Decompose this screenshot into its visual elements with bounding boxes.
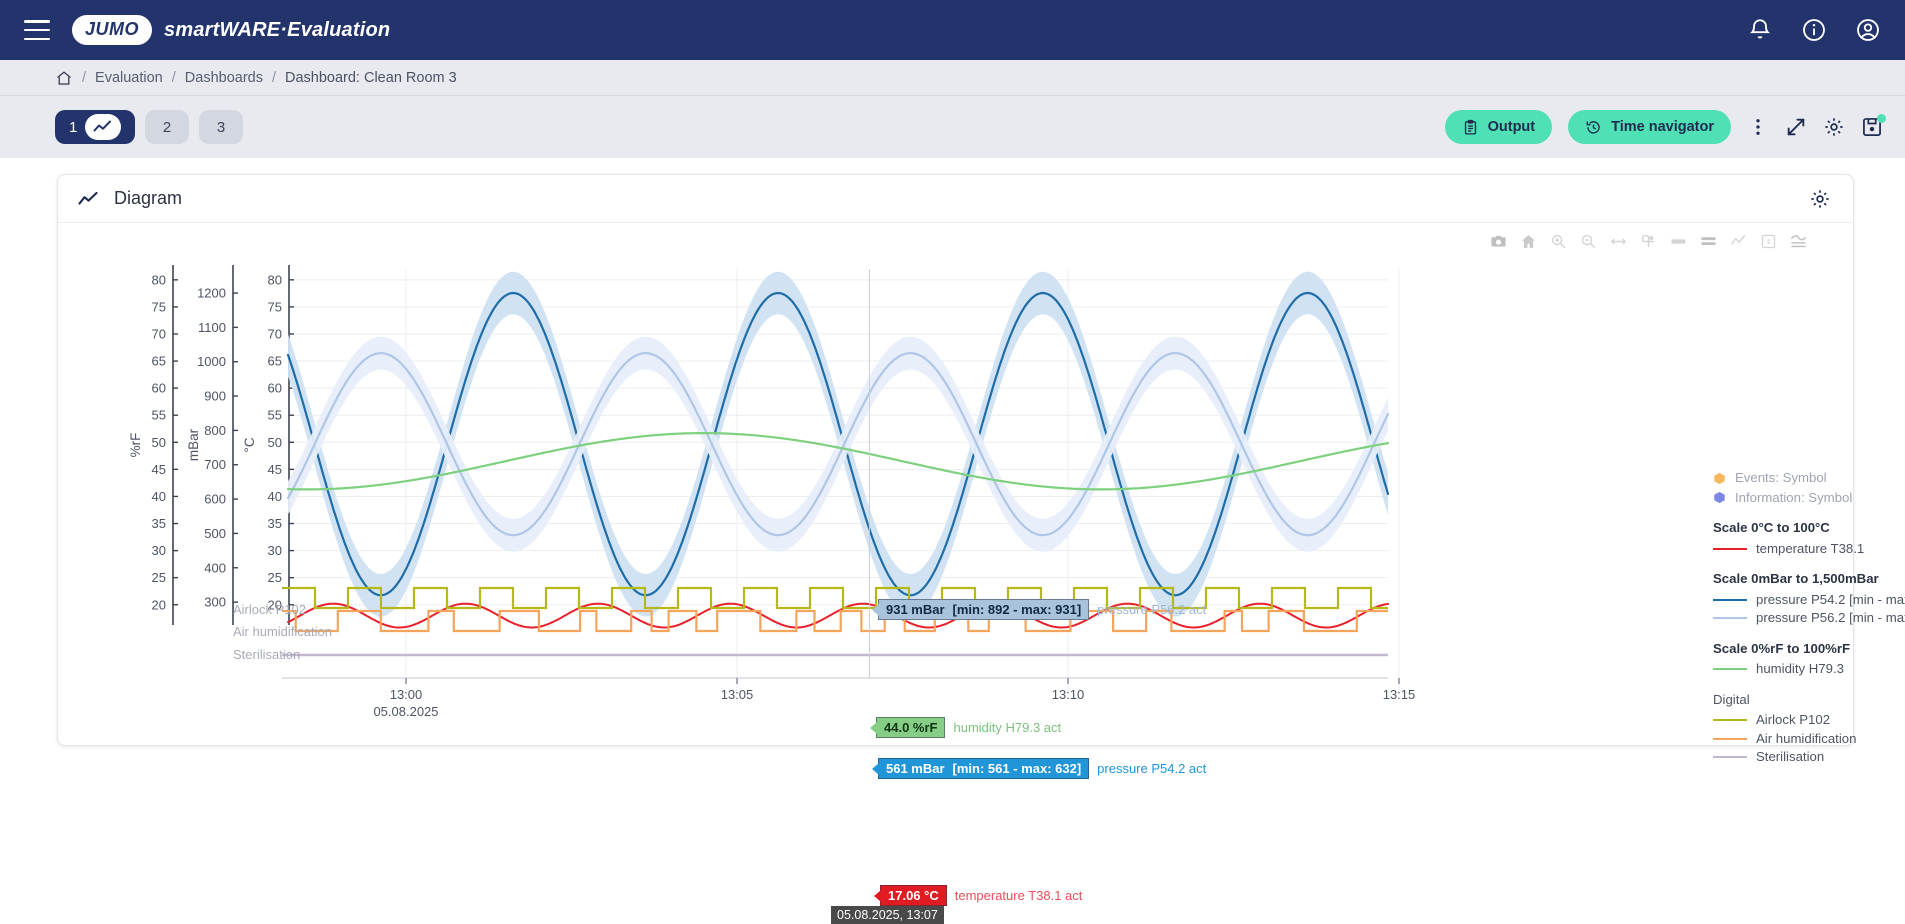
humidity-h793-tooltip[interactable]: 44.0 %rF humidity H79.3 act bbox=[876, 717, 1061, 738]
legend-group-pressure: Scale 0mBar to 1,500mBar pressure P54.2 … bbox=[1713, 571, 1905, 627]
breadcrumb-item-dashboard-clean-room-3[interactable]: Dashboard: Clean Room 3 bbox=[285, 70, 457, 86]
svg-text:20: 20 bbox=[152, 597, 166, 612]
chart-line-icon bbox=[85, 114, 121, 140]
diagram-card: Diagram bbox=[57, 174, 1854, 746]
pressure-p542-tooltip-range: [min: 561 - max: 632] bbox=[953, 761, 1082, 776]
legend-item-temperature-t381[interactable]: temperature T38.1 bbox=[1713, 541, 1905, 558]
hexagon-icon bbox=[1713, 491, 1726, 504]
digital-label-air-humidification: Air humidification bbox=[233, 624, 332, 639]
temperature-t381-tooltip-series: temperature T38.1 act bbox=[955, 888, 1083, 903]
pressure-p542-tooltip[interactable]: 561 mBar [min: 561 - max: 632] pressure … bbox=[878, 758, 1206, 779]
svg-text:45: 45 bbox=[152, 462, 166, 477]
svg-text:1200: 1200 bbox=[197, 286, 226, 301]
pressure-p562-tooltip-box: 931 mBar [min: 892 - max: 931] bbox=[878, 599, 1089, 620]
temperature-t381-tooltip[interactable]: 17.06 °C temperature T38.1 act bbox=[880, 885, 1082, 906]
legend-item-humidity-h793-label: humidity H79.3 bbox=[1756, 661, 1844, 678]
legend-group-temperature-heading: Scale 0°C to 100°C bbox=[1713, 520, 1905, 537]
svg-text:55: 55 bbox=[152, 408, 166, 423]
legend-item-pressure-p562[interactable]: pressure P56.2 [min - max] bbox=[1713, 610, 1905, 627]
svg-text:300: 300 bbox=[204, 595, 226, 610]
svg-text:%rF: %rF bbox=[128, 433, 143, 458]
svg-text:60: 60 bbox=[268, 381, 282, 396]
legend-group-digital-heading: Digital bbox=[1713, 692, 1905, 709]
legend-item-pressure-p562-label: pressure P56.2 [min - max] bbox=[1756, 610, 1905, 627]
legend-item-sterilisation-label: Sterilisation bbox=[1756, 749, 1824, 766]
legend-group-digital: Digital Airlock P102 Air humidification … bbox=[1713, 692, 1905, 766]
legend-group-humidity: Scale 0%rF to 100%rF humidity H79.3 bbox=[1713, 641, 1905, 678]
output-button-label: Output bbox=[1488, 119, 1536, 135]
account-icon[interactable] bbox=[1855, 17, 1881, 43]
jumo-logo: JUMO bbox=[72, 15, 152, 45]
svg-text:60: 60 bbox=[152, 381, 166, 396]
home-icon[interactable] bbox=[55, 69, 73, 87]
breadcrumb-separator-3: / bbox=[272, 70, 276, 86]
output-button[interactable]: Output bbox=[1445, 110, 1553, 144]
kebab-menu-icon[interactable] bbox=[1747, 116, 1769, 138]
pressure-p542-tooltip-value: 561 mBar bbox=[886, 761, 945, 776]
legend-item-pressure-p542-label: pressure P54.2 [min - max] bbox=[1756, 592, 1905, 609]
temperature-t381-tooltip-box: 17.06 °C bbox=[880, 885, 947, 906]
page-tab-2[interactable]: 2 bbox=[145, 110, 189, 144]
page-tab-3[interactable]: 3 bbox=[199, 110, 243, 144]
svg-text:75: 75 bbox=[268, 299, 282, 314]
svg-text:13:10: 13:10 bbox=[1052, 687, 1085, 702]
diagram-plot: 20253035404550556065707580%rF30040050060… bbox=[58, 223, 1853, 745]
legend-item-air-humidification[interactable]: Air humidification bbox=[1713, 731, 1905, 748]
legend-swatch bbox=[1713, 668, 1747, 670]
svg-text:13:05: 13:05 bbox=[721, 687, 754, 702]
breadcrumb: / Evaluation / Dashboards / Dashboard: C… bbox=[0, 60, 1905, 96]
legend-item-air-humidification-label: Air humidification bbox=[1756, 731, 1856, 748]
app-title: smartWARE·Evaluation bbox=[164, 19, 390, 42]
humidity-h793-tooltip-box: 44.0 %rF bbox=[876, 717, 945, 738]
history-icon bbox=[1585, 119, 1602, 136]
svg-text:1100: 1100 bbox=[198, 320, 226, 335]
svg-text:65: 65 bbox=[152, 354, 166, 369]
svg-text:75: 75 bbox=[152, 299, 166, 314]
legend-group-pressure-heading: Scale 0mBar to 1,500mBar bbox=[1713, 571, 1905, 588]
legend-symbol-information-label: Information: Symbol bbox=[1735, 490, 1852, 507]
svg-text:30: 30 bbox=[152, 543, 166, 558]
logo-text: JUMO bbox=[85, 20, 139, 39]
gear-icon[interactable] bbox=[1809, 188, 1831, 210]
svg-text:1000: 1000 bbox=[197, 354, 226, 369]
legend-item-sterilisation[interactable]: Sterilisation bbox=[1713, 749, 1905, 766]
breadcrumb-item-evaluation[interactable]: Evaluation bbox=[95, 70, 163, 86]
svg-text:mBar: mBar bbox=[186, 428, 201, 461]
svg-text:35: 35 bbox=[268, 516, 282, 531]
chart-legend: Events: Symbol Information: Symbol Scale… bbox=[1713, 470, 1905, 768]
humidity-h793-tooltip-value: 44.0 %rF bbox=[884, 720, 937, 735]
svg-text:13:15: 13:15 bbox=[1383, 687, 1416, 702]
svg-text:35: 35 bbox=[152, 516, 166, 531]
time-navigator-button[interactable]: Time navigator bbox=[1568, 110, 1731, 144]
pressure-p542-tooltip-series: pressure P54.2 act bbox=[1097, 761, 1206, 776]
clipboard-icon bbox=[1462, 119, 1479, 136]
time-navigator-button-label: Time navigator bbox=[1611, 119, 1714, 135]
toolbar-actions: Output Time navigator bbox=[1445, 110, 1883, 144]
legend-swatch bbox=[1713, 738, 1747, 740]
page-tab-3-label: 3 bbox=[217, 119, 225, 136]
chart-canvas[interactable]: 20253035404550556065707580%rF30040050060… bbox=[58, 223, 1853, 745]
app-bar: JUMO smartWARE·Evaluation bbox=[0, 0, 1905, 60]
page-selector: 1 2 3 bbox=[55, 110, 243, 144]
legend-item-humidity-h793[interactable]: humidity H79.3 bbox=[1713, 661, 1905, 678]
humidity-h793-tooltip-series: humidity H79.3 act bbox=[953, 720, 1061, 735]
digital-label-airlock: Airlock P102 bbox=[233, 602, 306, 617]
digital-label-sterilisation: Sterilisation bbox=[233, 647, 300, 662]
page-tab-1-label: 1 bbox=[69, 119, 77, 136]
svg-text:700: 700 bbox=[204, 457, 226, 472]
svg-text:13:00: 13:00 bbox=[390, 687, 423, 702]
info-icon[interactable] bbox=[1801, 17, 1827, 43]
save-status-badge bbox=[1877, 114, 1886, 123]
legend-swatch bbox=[1713, 548, 1747, 550]
svg-text:70: 70 bbox=[152, 326, 166, 341]
svg-text:65: 65 bbox=[268, 354, 282, 369]
expand-arrows-icon[interactable] bbox=[1785, 116, 1807, 138]
legend-item-temperature-t381-label: temperature T38.1 bbox=[1756, 541, 1864, 558]
svg-text:45: 45 bbox=[268, 462, 282, 477]
legend-item-airlock-p102[interactable]: Airlock P102 bbox=[1713, 712, 1905, 729]
pressure-p562-tooltip-range: [min: 892 - max: 931] bbox=[953, 602, 1082, 617]
save-button[interactable] bbox=[1861, 116, 1883, 138]
breadcrumb-separator-1: / bbox=[82, 70, 86, 86]
svg-text:05.08.2025: 05.08.2025 bbox=[373, 704, 438, 719]
diagram-card-header: Diagram bbox=[58, 175, 1853, 223]
pressure-p542-tooltip-box: 561 mBar [min: 561 - max: 632] bbox=[878, 758, 1089, 779]
hexagon-icon bbox=[1713, 472, 1726, 485]
legend-swatch bbox=[1713, 756, 1747, 758]
svg-text:25: 25 bbox=[268, 570, 282, 585]
svg-text:40: 40 bbox=[152, 489, 166, 504]
legend-symbol-events-label: Events: Symbol bbox=[1735, 470, 1827, 487]
temperature-t381-tooltip-value: 17.06 °C bbox=[888, 888, 939, 903]
pressure-p562-tooltip-value: 931 mBar bbox=[886, 602, 945, 617]
svg-text:50: 50 bbox=[152, 435, 166, 450]
legend-symbol-information[interactable]: Information: Symbol bbox=[1713, 490, 1905, 507]
svg-text:900: 900 bbox=[204, 389, 226, 404]
page-tab-2-label: 2 bbox=[163, 119, 171, 136]
legend-item-airlock-p102-label: Airlock P102 bbox=[1756, 712, 1830, 729]
chart-line-icon bbox=[78, 191, 100, 207]
legend-symbol-events[interactable]: Events: Symbol bbox=[1713, 470, 1905, 487]
svg-text:80: 80 bbox=[152, 272, 166, 287]
page-tab-1[interactable]: 1 bbox=[55, 110, 135, 144]
svg-text:25: 25 bbox=[152, 570, 166, 585]
hamburger-icon[interactable] bbox=[24, 20, 50, 40]
app-bar-actions bbox=[1747, 17, 1881, 43]
svg-text:500: 500 bbox=[204, 526, 226, 541]
dashboard-toolbar: 1 2 3 Output bbox=[0, 96, 1905, 158]
page-title: Diagram bbox=[114, 188, 182, 209]
svg-text:70: 70 bbox=[268, 326, 282, 341]
legend-swatch bbox=[1713, 617, 1747, 619]
svg-text:800: 800 bbox=[204, 423, 226, 438]
bell-icon[interactable] bbox=[1747, 17, 1773, 43]
legend-group-humidity-heading: Scale 0%rF to 100%rF bbox=[1713, 641, 1905, 658]
svg-text:55: 55 bbox=[268, 408, 282, 423]
breadcrumb-item-dashboards[interactable]: Dashboards bbox=[185, 70, 263, 86]
legend-group-temperature: Scale 0°C to 100°C temperature T38.1 bbox=[1713, 520, 1905, 557]
svg-text:50: 50 bbox=[268, 435, 282, 450]
svg-text:30: 30 bbox=[268, 543, 282, 558]
breadcrumb-separator-2: / bbox=[172, 70, 176, 86]
svg-text:600: 600 bbox=[204, 492, 226, 507]
svg-text:°C: °C bbox=[242, 437, 257, 452]
pressure-p562-tooltip-series: pressure P56.2 act bbox=[1097, 602, 1206, 617]
legend-item-pressure-p542[interactable]: pressure P54.2 [min - max] bbox=[1713, 592, 1905, 609]
svg-text:80: 80 bbox=[268, 272, 282, 287]
pressure-p562-tooltip[interactable]: 931 mBar [min: 892 - max: 931] pressure … bbox=[878, 599, 1206, 620]
svg-text:40: 40 bbox=[268, 489, 282, 504]
gear-icon[interactable] bbox=[1823, 116, 1845, 138]
legend-swatch bbox=[1713, 599, 1747, 601]
legend-swatch bbox=[1713, 719, 1747, 721]
cursor-time-label: 05.08.2025, 13:07 bbox=[831, 906, 944, 924]
svg-text:400: 400 bbox=[204, 560, 226, 575]
